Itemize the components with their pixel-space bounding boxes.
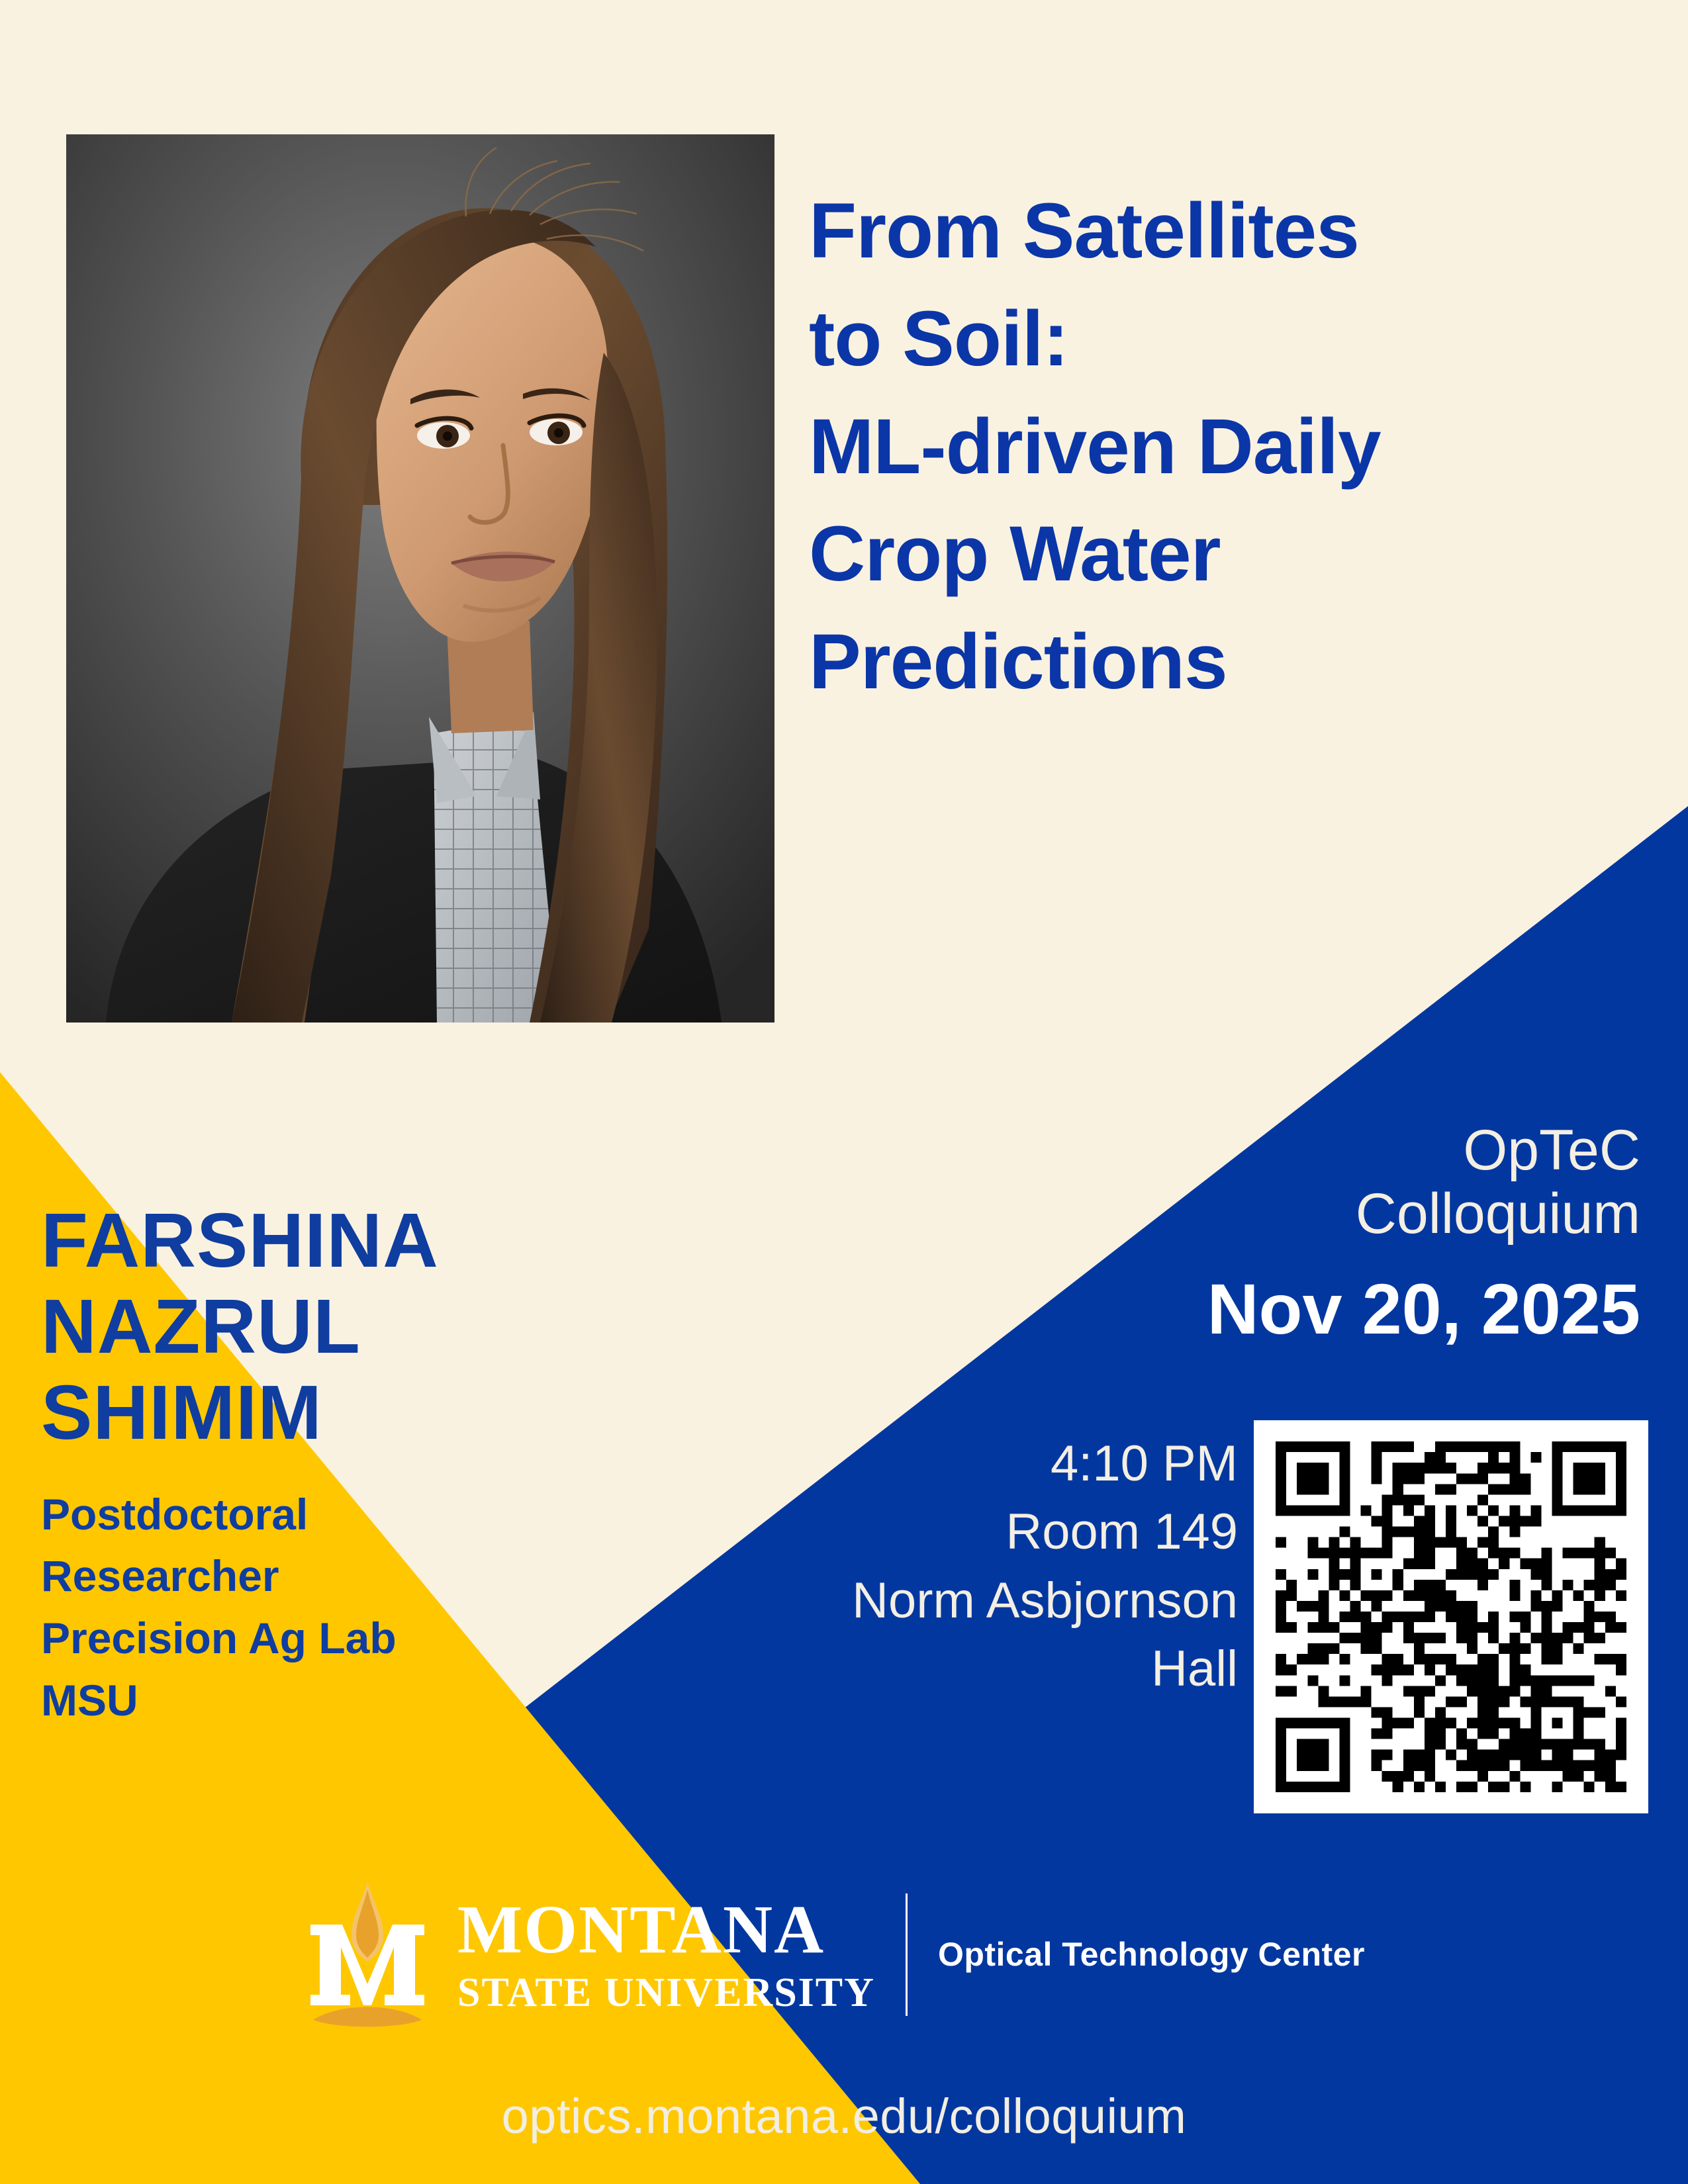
speaker-name-line-3: SHIMIM — [41, 1370, 557, 1456]
msu-logo: MONTANA STATE UNIVERSITY Optical Technol… — [301, 1878, 1387, 2030]
title-line-5: Predictions — [809, 608, 1623, 716]
event-series: OpTeC Colloquium — [978, 1118, 1640, 1246]
title-line-2: to Soil: — [809, 285, 1623, 393]
speaker-name-line-1: FARSHINA — [41, 1198, 557, 1284]
event-series-line-2: Colloquium — [978, 1182, 1640, 1246]
title-line-1: From Satellites — [809, 177, 1623, 285]
speaker-block: FARSHINA NAZRUL SHIMIM Postdoctoral Rese… — [41, 1198, 557, 1732]
msu-wordmark: MONTANA STATE UNIVERSITY — [457, 1895, 875, 2013]
qr-code[interactable] — [1254, 1420, 1648, 1813]
speaker-role-line-1: Postdoctoral — [41, 1484, 557, 1546]
title-line-3: ML-driven Daily — [809, 393, 1623, 501]
speaker-affiliation: Postdoctoral Researcher Precision Ag Lab… — [41, 1484, 557, 1732]
speaker-portrait — [66, 134, 774, 1023]
speaker-name: FARSHINA NAZRUL SHIMIM — [41, 1198, 557, 1456]
event-time: 4:10 PM — [695, 1430, 1238, 1498]
event-series-line-1: OpTeC — [978, 1118, 1640, 1182]
speaker-role-line-4: MSU — [41, 1670, 557, 1732]
event-location: 4:10 PM Room 149 Norm Asbjornson Hall — [695, 1430, 1238, 1703]
event-building-line-1: Norm Asbjornson — [695, 1567, 1238, 1635]
event-building-line-2: Hall — [695, 1635, 1238, 1703]
logo-divider — [906, 1893, 908, 2016]
speaker-role-line-3: Precision Ag Lab — [41, 1608, 557, 1670]
msu-line-state-university: STATE UNIVERSITY — [457, 1972, 875, 2013]
speaker-role-line-2: Researcher — [41, 1545, 557, 1608]
event-room: Room 149 — [695, 1498, 1238, 1566]
talk-title: From Satellites to Soil: ML-driven Daily… — [809, 177, 1623, 716]
speaker-name-line-2: NAZRUL — [41, 1284, 557, 1370]
optical-technology-center-label: Optical Technology Center — [938, 1935, 1365, 1974]
poster-canvas: From Satellites to Soil: ML-driven Daily… — [0, 0, 1688, 2184]
msu-line-montana: MONTANA — [457, 1895, 875, 1964]
colloquium-url: optics.montana.edu/colloquium — [0, 2088, 1688, 2144]
event-date: Nov 20, 2025 — [912, 1267, 1640, 1350]
msu-torch-m-icon — [301, 1878, 434, 2030]
title-line-4: Crop Water — [809, 500, 1623, 608]
